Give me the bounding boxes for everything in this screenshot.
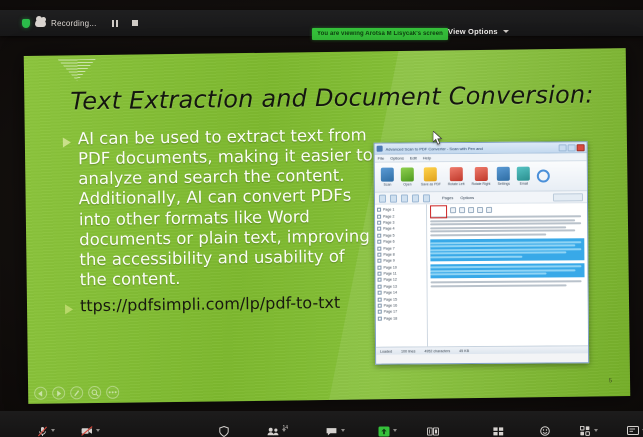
- chat-button[interactable]: [326, 426, 338, 436]
- page-label: Page 7: [383, 246, 394, 250]
- chat-bubble-icon: [326, 426, 338, 436]
- scan-icon: [381, 168, 394, 182]
- sub-toolbar-field[interactable]: [553, 193, 583, 201]
- view-options-label: View Options: [448, 27, 498, 36]
- page-label: Page 5: [383, 233, 394, 237]
- zoom-top-bar: Recording... You are viewing Arotsa M Li…: [0, 10, 643, 36]
- text-line: [430, 215, 581, 218]
- text-line: [430, 234, 546, 237]
- security-button[interactable]: [218, 426, 230, 436]
- text-line: [430, 230, 575, 233]
- maximize-button[interactable]: [568, 144, 576, 151]
- app-status-bar: Loaded 100 lines 4952 characters 45 KB: [376, 345, 588, 354]
- page-checkbox[interactable]: [377, 272, 381, 276]
- app-toolbar: Scan Open Save as PDF Rotate Left: [375, 161, 587, 192]
- bullet-text: AI can be used to extract text from PDF …: [78, 125, 375, 290]
- rotate-left-icon: [450, 167, 463, 181]
- toolbar-settings-button[interactable]: Settings: [497, 167, 510, 186]
- list-item[interactable]: Page 18: [378, 315, 425, 322]
- apps-button[interactable]: [579, 426, 591, 436]
- page-checkbox[interactable]: [377, 259, 381, 263]
- text-line: [430, 241, 581, 244]
- text-line: [430, 244, 575, 247]
- page-checkbox[interactable]: [377, 227, 381, 231]
- slide-bullet-list: AI can be used to extract text from PDF …: [63, 125, 375, 320]
- share-screen-icon: [378, 426, 390, 436]
- record-button[interactable]: [427, 426, 439, 436]
- page-label: Page 11: [383, 272, 396, 276]
- page-checkbox[interactable]: [377, 221, 381, 225]
- rotate-right-icon: [474, 167, 487, 181]
- page-label: Page 14: [384, 291, 397, 295]
- list-item: AI can be used to extract text from PDF …: [63, 125, 375, 290]
- mini-tool-icon-5[interactable]: [486, 207, 492, 213]
- previous-slide-button[interactable]: [34, 387, 47, 400]
- record-pause-stop-icon: [427, 426, 439, 436]
- toolbar-open-button[interactable]: Open: [401, 167, 414, 186]
- triangle-bullet-icon: [63, 137, 71, 147]
- chevron-up-icon[interactable]: [594, 429, 598, 432]
- text-line: [431, 273, 547, 276]
- page-label: Page 12: [384, 278, 397, 282]
- screen-share-banner: You are viewing Arotsa M Lisycak's scree…: [312, 28, 448, 40]
- menu-item-edit[interactable]: Edit: [410, 155, 417, 160]
- page-checkbox[interactable]: [377, 265, 381, 269]
- highlighted-text-block: [430, 238, 584, 261]
- page-title: Text Extraction and Document Conversion:: [70, 81, 594, 116]
- monitor-photo: Recording... You are viewing Arotsa M Li…: [0, 0, 643, 437]
- toolbar-label: Email: [520, 182, 529, 186]
- page-checkbox[interactable]: [377, 233, 381, 237]
- page-checkbox[interactable]: [377, 246, 381, 250]
- status-badge: 14: [283, 425, 289, 431]
- page-label: Page 15: [384, 297, 397, 301]
- page-label: Page 10: [383, 265, 396, 269]
- status-size: 45 KB: [459, 349, 469, 353]
- slide-decoration-triangle-icon: [58, 59, 96, 81]
- page-label: Page 9: [383, 259, 394, 263]
- page-checkbox[interactable]: [378, 304, 382, 308]
- app-body: Page 1Page 2Page 3Page 4Page 5Page 6Page…: [375, 203, 588, 346]
- document-text-block: [430, 215, 584, 236]
- tab-options[interactable]: Options: [460, 195, 474, 200]
- status-lines: 100 lines: [401, 349, 415, 353]
- page-checkbox[interactable]: [377, 214, 381, 218]
- app-title-text: Advanced Scan to PDF Converter - Scan wi…: [386, 145, 483, 151]
- zoom-control-bar: 14: [0, 411, 643, 437]
- menu-item-help[interactable]: Help: [423, 155, 431, 160]
- toolbar-label: Rotate Left: [448, 182, 465, 186]
- text-line: [430, 226, 566, 229]
- preview-mini-toolbar: [450, 206, 584, 213]
- toolbar-save-pdf-button[interactable]: Save as PDF: [421, 167, 441, 186]
- recording-indicator-group: Recording...: [22, 19, 138, 28]
- toolbar-label: Rotate Right: [471, 182, 490, 186]
- view-options-button[interactable]: View Options: [448, 27, 509, 36]
- triangle-bullet-icon: [65, 304, 73, 314]
- page-checkbox[interactable]: [377, 240, 381, 244]
- app-icon: [377, 146, 383, 152]
- page-label: Page 2: [383, 214, 394, 218]
- text-line: [430, 256, 522, 259]
- page-checkbox[interactable]: [378, 278, 382, 282]
- page-tool-icon-5[interactable]: [423, 194, 430, 202]
- cloud-recording-icon: [35, 19, 46, 27]
- chevron-up-icon[interactable]: [393, 429, 397, 432]
- chevron-up-icon[interactable]: [96, 429, 100, 432]
- highlighted-text-block: [430, 263, 584, 278]
- page-label: Page 1: [383, 208, 394, 212]
- text-line: [430, 269, 575, 272]
- list-item: ttps://pdfsimpli.com/lp/pdf-to-txt: [65, 292, 375, 316]
- document-preview-panel[interactable]: [427, 203, 588, 346]
- toolbar-label: Open: [403, 182, 411, 186]
- toolbar-scan-button[interactable]: Scan: [381, 168, 394, 187]
- document-text-block: [431, 280, 585, 287]
- page-label: Page 17: [384, 310, 397, 314]
- more-options-button[interactable]: [106, 386, 119, 399]
- page-label: Page 16: [384, 304, 397, 308]
- breakout-rooms-icon: [493, 426, 505, 436]
- window-controls: [559, 144, 585, 151]
- shield-icon: [218, 426, 230, 436]
- zoom-button[interactable]: [88, 386, 101, 399]
- mute-audio-button[interactable]: [36, 426, 48, 436]
- presenter-toolbar: [34, 386, 119, 400]
- chevron-up-icon[interactable]: [341, 429, 345, 432]
- status-characters: 4952 characters: [424, 349, 450, 353]
- slide-number: 5: [609, 378, 612, 384]
- shared-screen-area: Text Extraction and Document Conversion:…: [24, 48, 631, 404]
- status-loaded: Loaded: [380, 349, 392, 353]
- recording-active-dot: [22, 19, 30, 28]
- page-label: Page 3: [383, 221, 394, 225]
- page-checkbox[interactable]: [378, 291, 382, 295]
- pen-tool-button[interactable]: [70, 386, 83, 399]
- page-label: Page 4: [383, 227, 394, 231]
- page-label: Page 8: [383, 253, 394, 257]
- minimize-button[interactable]: [559, 144, 567, 151]
- mini-tool-icon-3[interactable]: [468, 207, 474, 213]
- page-checkbox[interactable]: [378, 285, 382, 289]
- toolbar-about-button[interactable]: [537, 169, 550, 182]
- mini-tool-icon-4[interactable]: [477, 207, 483, 213]
- toolbar-label: Scan: [383, 183, 391, 187]
- reactions-button[interactable]: [539, 426, 551, 436]
- text-line: [430, 252, 566, 255]
- whiteboard-button[interactable]: [627, 426, 639, 436]
- stop-recording-icon[interactable]: [132, 20, 138, 26]
- page-tool-icon-3[interactable]: [401, 194, 408, 202]
- text-line: [430, 248, 581, 251]
- sub-tab-list: Pages Options: [442, 195, 474, 200]
- open-folder-icon: [401, 167, 414, 181]
- stop-video-button[interactable]: [81, 426, 93, 436]
- text-line: [430, 222, 581, 225]
- participants-button[interactable]: 14: [267, 426, 279, 436]
- red-selection-box: [430, 205, 447, 218]
- toolbar-label: Settings: [498, 182, 510, 186]
- toolbar-rotate-right-button[interactable]: Rotate Right: [471, 167, 490, 186]
- screen-share-banner-text: You are viewing Arotsa M Lisycak's scree…: [317, 31, 443, 37]
- text-line: [431, 280, 582, 283]
- page-tool-icon-1[interactable]: [379, 194, 386, 202]
- page-label: Page 6: [383, 240, 394, 244]
- powerpoint-slide: Text Extraction and Document Conversion:…: [24, 48, 631, 404]
- page-checkbox[interactable]: [378, 310, 382, 314]
- apps-icon: [579, 426, 591, 436]
- menu-item-options[interactable]: Options: [390, 156, 404, 161]
- share-screen-button[interactable]: [378, 426, 390, 436]
- save-pdf-icon: [424, 167, 437, 181]
- page-checkbox[interactable]: [378, 297, 382, 301]
- page-label: Page 13: [384, 284, 397, 288]
- page-label: Page 18: [384, 316, 397, 320]
- participants-icon: [267, 426, 279, 436]
- camera-muted-icon: [81, 426, 93, 436]
- whiteboard-icon: [627, 426, 639, 436]
- next-slide-button[interactable]: [52, 386, 65, 399]
- embedded-app-screenshot: Advanced Scan to PDF Converter - Scan wi…: [374, 141, 590, 364]
- text-line: [430, 219, 575, 222]
- mini-tool-icon-2[interactable]: [459, 207, 465, 213]
- gear-icon: [497, 167, 510, 181]
- recording-label: Recording...: [51, 19, 97, 28]
- page-tool-icon-4[interactable]: [412, 194, 419, 202]
- text-line: [431, 284, 567, 287]
- chevron-up-icon[interactable]: [51, 429, 55, 432]
- breakout-rooms-button[interactable]: [493, 426, 505, 436]
- bullet-link-text[interactable]: ttps://pdfsimpli.com/lp/pdf-to-txt: [80, 293, 340, 316]
- chevron-down-icon: [503, 30, 509, 33]
- email-icon: [517, 167, 530, 181]
- toolbar-email-button[interactable]: Email: [517, 167, 530, 186]
- mini-tool-icon-1[interactable]: [450, 207, 456, 213]
- page-checkbox[interactable]: [377, 253, 381, 257]
- text-line: [430, 265, 581, 268]
- toolbar-rotate-left-button[interactable]: Rotate Left: [448, 167, 465, 186]
- page-tool-icon-2[interactable]: [390, 194, 397, 202]
- page-checkbox[interactable]: [377, 208, 381, 212]
- toolbar-label: Save as PDF: [421, 182, 441, 186]
- pages-list-panel[interactable]: Page 1Page 2Page 3Page 4Page 5Page 6Page…: [375, 204, 428, 346]
- page-checkbox[interactable]: [378, 317, 382, 321]
- close-button[interactable]: [577, 144, 585, 151]
- menu-item-file[interactable]: File: [378, 156, 384, 161]
- reactions-icon: [539, 426, 551, 436]
- pause-recording-icon[interactable]: [112, 20, 118, 27]
- microphone-muted-icon: [36, 426, 48, 436]
- info-circle-icon: [537, 169, 550, 182]
- tab-pages[interactable]: Pages: [442, 195, 453, 200]
